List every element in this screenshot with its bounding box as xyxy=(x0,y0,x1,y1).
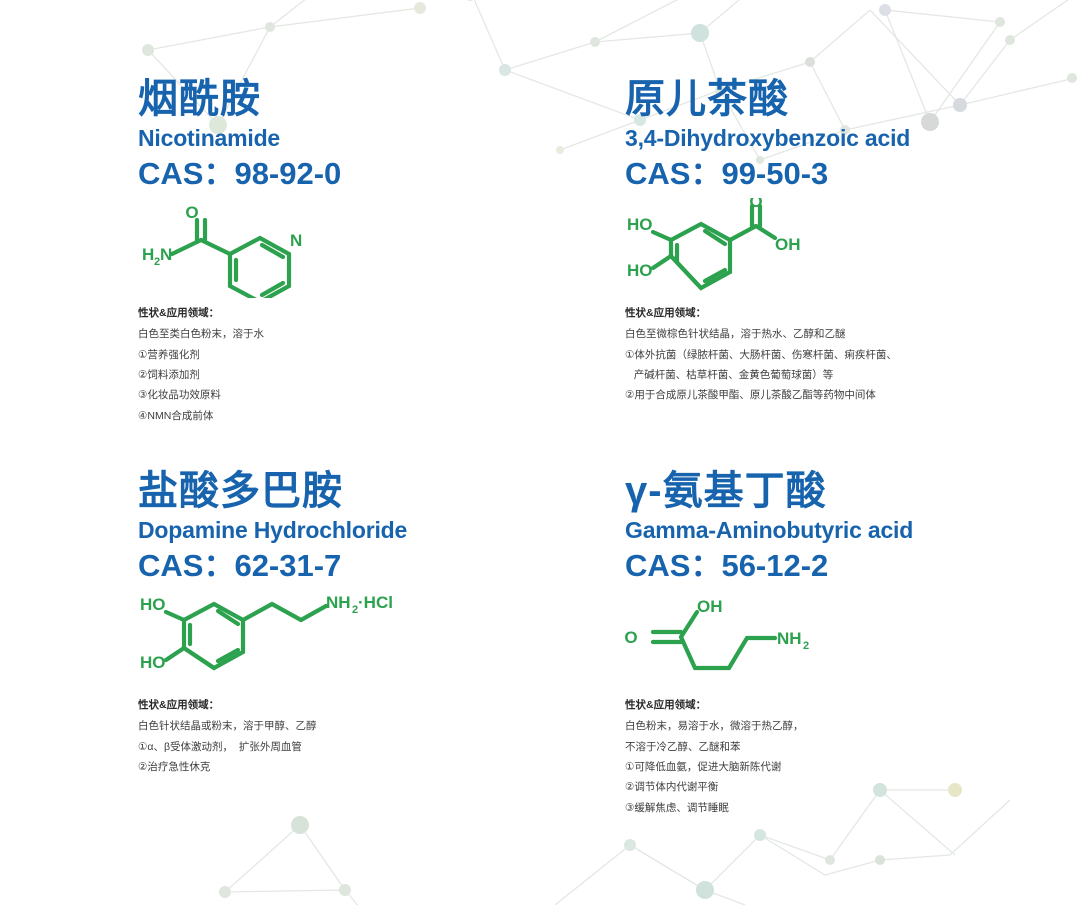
description-line: ②用于合成原儿茶酸甲酯、原儿茶酸乙酯等药物中间体 xyxy=(625,385,1080,405)
svg-text:OH: OH xyxy=(697,597,723,616)
svg-text:HO: HO xyxy=(627,261,653,280)
nicotinamide-structure: O H 2 N N xyxy=(138,198,598,298)
description-line: ③缓解焦虑、调节睡眠 xyxy=(625,798,1080,818)
product-card-nicotinamide: 烟酰胺 Nicotinamide CAS：98-92-0 xyxy=(138,78,598,426)
svg-text:HO: HO xyxy=(140,595,166,614)
description-line: ②调节体内代谢平衡 xyxy=(625,777,1080,797)
product-card-gamma-aminobutyric-acid: γ-氨基丁酸 Gamma-Aminobutyric acid CAS：56-12… xyxy=(625,470,1080,818)
description-line: ①α、β受体激动剂， 扩张外周血管 xyxy=(138,737,598,757)
product-chinese-name: 原儿茶酸 xyxy=(625,78,1080,121)
product-description: 性状&应用领域： 白色至微棕色针状结晶，溶于热水、乙醇和乙醚 ①体外抗菌（绿脓杆… xyxy=(625,304,1080,406)
svg-text:OH: OH xyxy=(775,235,801,254)
product-chinese-name: 烟酰胺 xyxy=(138,78,598,121)
svg-text:NH: NH xyxy=(326,593,351,612)
product-description: 性状&应用领域： 白色粉末，易溶于水，微溶于热乙醇， 不溶于冷乙醇、乙醚和苯 ①… xyxy=(625,696,1080,818)
product-english-name: Gamma-Aminobutyric acid xyxy=(625,516,1080,545)
description-line: 不溶于冷乙醇、乙醚和苯 xyxy=(625,737,1080,757)
svg-text:O: O xyxy=(185,203,198,222)
description-line: 产碱杆菌、枯草杆菌、金黄色葡萄球菌）等 xyxy=(625,365,1080,385)
product-card-dihydroxybenzoic-acid: 原儿茶酸 3,4-Dihydroxybenzoic acid CAS：99-50… xyxy=(625,78,1080,406)
dopamine-hydrochloride-structure: HO HO NH 2 ·HCl xyxy=(138,590,598,690)
description-heading: 性状&应用领域： xyxy=(625,696,1080,716)
description-heading: 性状&应用领域： xyxy=(625,304,1080,324)
product-chinese-name: 盐酸多巴胺 xyxy=(138,470,598,513)
product-description: 性状&应用领域： 白色针状结晶或粉末，溶于甲醇、乙醇 ①α、β受体激动剂， 扩张… xyxy=(138,696,598,777)
product-cas-number: CAS：62-31-7 xyxy=(138,547,598,584)
product-cas-number: CAS：98-92-0 xyxy=(138,155,598,192)
product-cas-number: CAS：56-12-2 xyxy=(625,547,1080,584)
svg-text:N: N xyxy=(290,231,302,250)
svg-text:·HCl: ·HCl xyxy=(358,593,393,612)
product-card-dopamine-hydrochloride: 盐酸多巴胺 Dopamine Hydrochloride CAS：62-31-7 xyxy=(138,470,598,777)
description-line: 白色针状结晶或粉末，溶于甲醇、乙醇 xyxy=(138,716,598,736)
product-cas-number: CAS：99-50-3 xyxy=(625,155,1080,192)
description-line: ①可降低血氨，促进大脑新陈代谢 xyxy=(625,757,1080,777)
product-chinese-name: γ-氨基丁酸 xyxy=(625,470,1080,513)
svg-text:NH: NH xyxy=(777,629,802,648)
svg-text:HO: HO xyxy=(140,653,166,672)
description-heading: 性状&应用领域： xyxy=(138,696,598,716)
description-line: ①营养强化剂 xyxy=(138,345,598,365)
product-english-name: Dopamine Hydrochloride xyxy=(138,516,598,545)
svg-text:O: O xyxy=(625,628,638,647)
description-line: ③化妆品功效原料 xyxy=(138,385,598,405)
svg-text:O: O xyxy=(749,198,762,211)
svg-text:N: N xyxy=(160,245,172,264)
description-line: 白色至微棕色针状结晶，溶于热水、乙醇和乙醚 xyxy=(625,324,1080,344)
description-line: ④NMN合成前体 xyxy=(138,406,598,426)
svg-text:HO: HO xyxy=(627,215,653,234)
svg-text:H: H xyxy=(142,245,154,264)
product-english-name: Nicotinamide xyxy=(138,124,598,153)
product-english-name: 3,4-Dihydroxybenzoic acid xyxy=(625,124,1080,153)
description-line: ②治疗急性休克 xyxy=(138,757,598,777)
dihydroxybenzoic-acid-structure: HO HO O OH xyxy=(625,198,1080,298)
product-description: 性状&应用领域： 白色至类白色粉末，溶于水 ①营养强化剂 ②饲料添加剂 ③化妆品… xyxy=(138,304,598,426)
gamma-aminobutyric-acid-structure: O OH NH 2 xyxy=(625,590,1080,690)
description-line: 白色粉末，易溶于水，微溶于热乙醇， xyxy=(625,716,1080,736)
description-line: 白色至类白色粉末，溶于水 xyxy=(138,324,598,344)
product-card-grid: 烟酰胺 Nicotinamide CAS：98-92-0 xyxy=(0,0,1080,905)
svg-text:2: 2 xyxy=(803,640,809,652)
description-heading: 性状&应用领域： xyxy=(138,304,598,324)
description-line: ①体外抗菌（绿脓杆菌、大肠杆菌、伤寒杆菌、痢疾杆菌、 xyxy=(625,345,1080,365)
description-line: ②饲料添加剂 xyxy=(138,365,598,385)
